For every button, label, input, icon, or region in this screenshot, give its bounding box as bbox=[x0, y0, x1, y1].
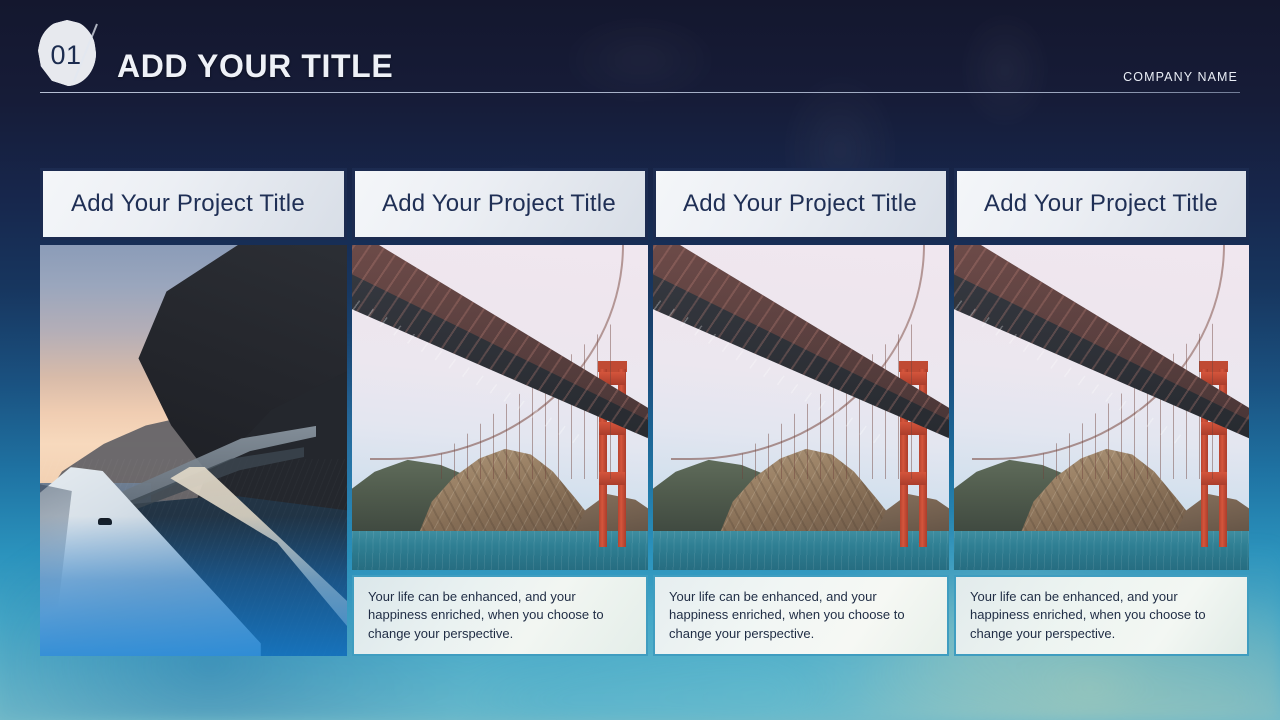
project-photo-4[interactable] bbox=[954, 245, 1249, 570]
project-photo-3[interactable] bbox=[653, 245, 949, 570]
project-title-2[interactable]: Add Your Project Title bbox=[352, 168, 648, 240]
project-panel-3[interactable]: Add Your Project Title bbox=[653, 168, 949, 656]
slide-header: 01 ADD YOUR TITLE COMPANY NAME bbox=[0, 0, 1280, 100]
project-panel-4[interactable]: Add Your Project Title bbox=[954, 168, 1249, 656]
section-number-badge: 01 bbox=[38, 20, 96, 86]
golden-gate-bridge-photo-icon bbox=[352, 245, 648, 570]
coastal-road-photo-icon bbox=[40, 245, 347, 656]
project-panel-2[interactable]: Add Your Project Title bbox=[352, 168, 648, 656]
project-photo-2[interactable] bbox=[352, 245, 648, 570]
project-panel-grid: Add Your Project Title Add Your Proj bbox=[40, 168, 1240, 656]
golden-gate-bridge-photo-icon bbox=[653, 245, 949, 570]
golden-gate-bridge-photo-icon bbox=[954, 245, 1249, 570]
project-caption-4: Your life can be enhanced, and your happ… bbox=[954, 575, 1249, 656]
header-divider-line bbox=[40, 92, 1240, 93]
project-caption-2: Your life can be enhanced, and your happ… bbox=[352, 575, 648, 656]
section-number-label: 01 bbox=[38, 20, 96, 86]
project-title-4[interactable]: Add Your Project Title bbox=[954, 168, 1249, 240]
project-photo-1[interactable] bbox=[40, 245, 347, 656]
page-title: ADD YOUR TITLE bbox=[117, 50, 393, 82]
project-caption-3: Your life can be enhanced, and your happ… bbox=[653, 575, 949, 656]
project-panel-1[interactable]: Add Your Project Title bbox=[40, 168, 347, 656]
project-title-1[interactable]: Add Your Project Title bbox=[40, 168, 347, 240]
project-title-3[interactable]: Add Your Project Title bbox=[653, 168, 949, 240]
company-name-label: COMPANY NAME bbox=[1123, 70, 1238, 84]
